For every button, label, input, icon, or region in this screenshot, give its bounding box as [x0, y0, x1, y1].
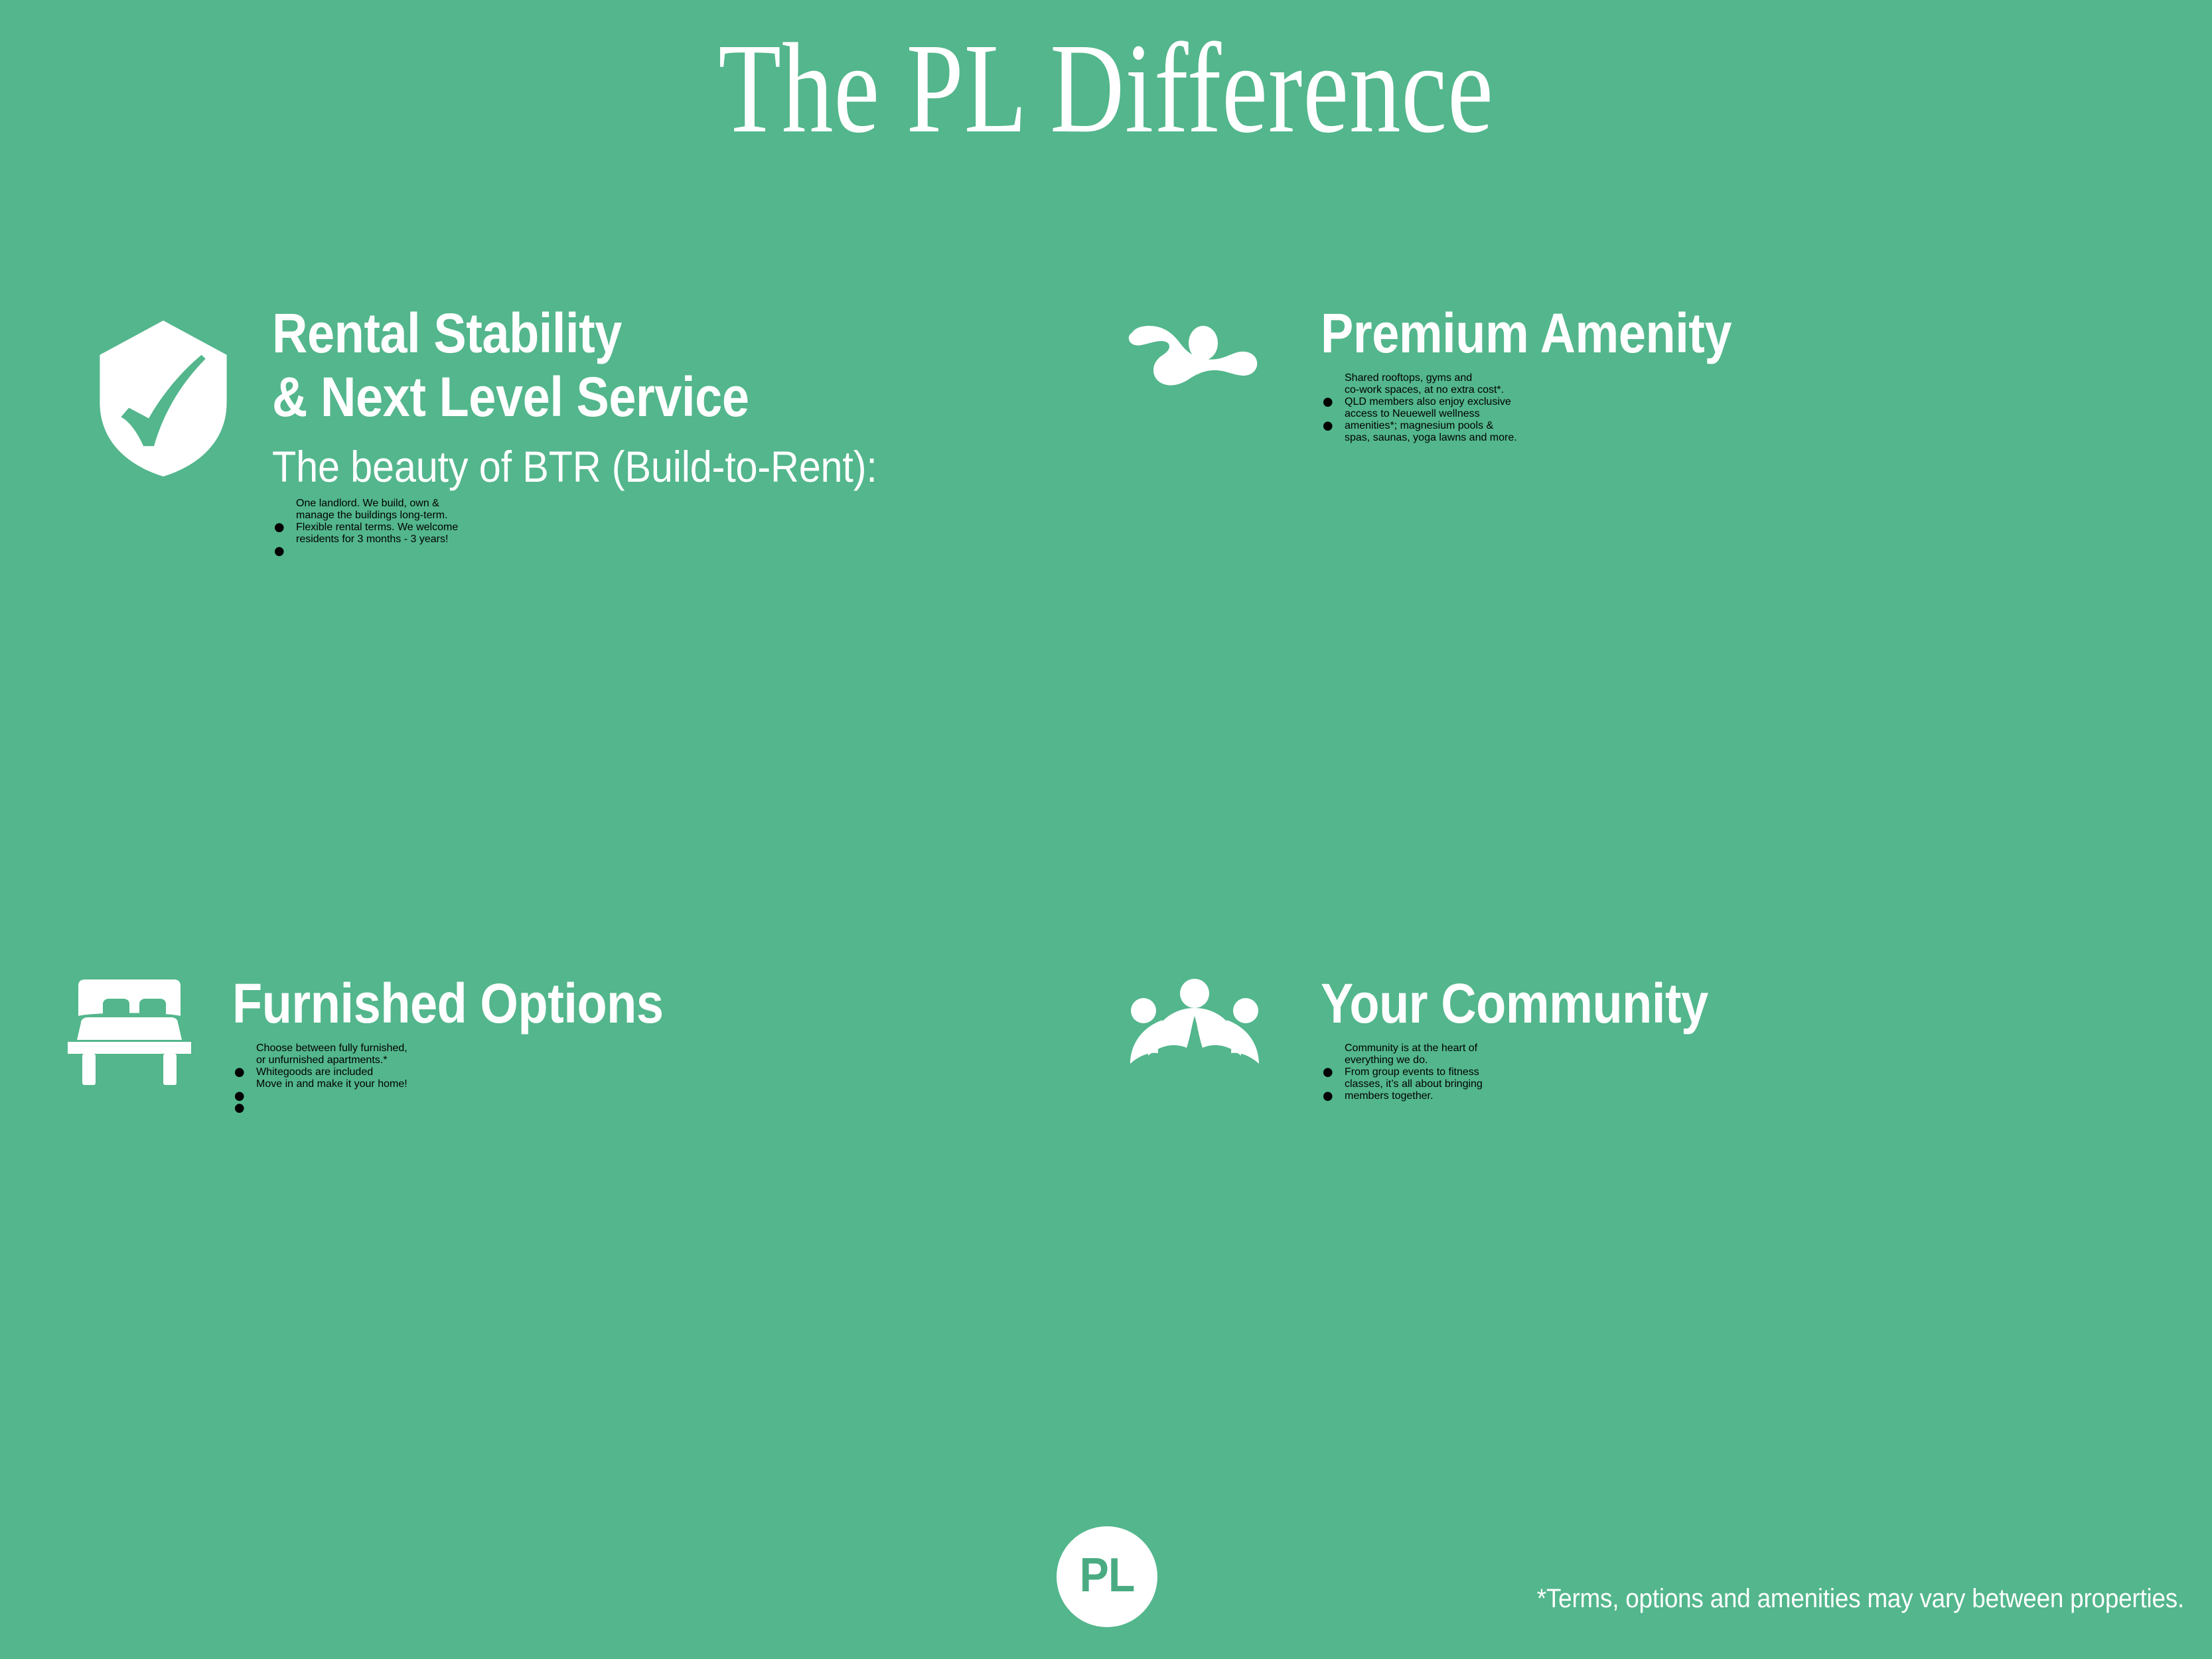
bullet-line: QLD members also enjoy exclusive — [1345, 396, 2164, 408]
bullet-line: members together. — [1345, 1090, 2164, 1102]
feature-bullet: Whitegoods are included — [232, 1066, 1062, 1078]
swimmer-icon — [1128, 302, 1321, 394]
bullet-line: Whitegoods are included — [256, 1066, 1062, 1078]
bullet-line: Community is at the heart of — [1345, 1043, 2164, 1054]
bullet-line: Flexible rental terms. We welcome — [296, 522, 1082, 534]
pl-logo: PL — [1057, 1526, 1157, 1627]
community-people-icon — [1128, 972, 1321, 1072]
feature-body: Premium Amenity Shared rooftops, gyms an… — [1321, 302, 2164, 444]
feature-bullet: Shared rooftops, gyms and co-work spaces… — [1321, 372, 2164, 396]
feature-body: Furnished Options Choose between fully f… — [232, 972, 1062, 1090]
feature-card-premium-amenity: Premium Amenity Shared rooftops, gyms an… — [1128, 302, 2164, 444]
feature-bullet: Flexible rental terms. We welcome reside… — [272, 522, 1082, 545]
bullet-line: spas, saunas, yoga lawns and more. — [1345, 432, 2164, 444]
feature-heading: Furnished Options — [232, 972, 962, 1036]
bullet-line: amenities*; magnesium pools & — [1345, 420, 2164, 432]
bullet-line: Choose between fully furnished, — [256, 1043, 1062, 1054]
feature-bullet: From group events to fitness classes, it… — [1321, 1066, 2164, 1102]
bullet-line: classes, it’s all about bringing — [1345, 1078, 2164, 1090]
bullet-line: One landlord. We build, own & — [296, 498, 1082, 510]
bullet-line: access to Neuewell wellness — [1345, 408, 2164, 420]
bed-icon — [66, 972, 232, 1086]
bullet-line: or unfurnished apartments.* — [256, 1054, 1062, 1066]
bullet-line: Shared rooftops, gyms and — [1345, 372, 2164, 384]
feature-heading: Premium Amenity — [1321, 302, 2063, 366]
shield-check-icon — [100, 302, 272, 476]
bullet-line: residents for 3 months - 3 years! — [296, 534, 1082, 545]
feature-heading: Your Community — [1321, 972, 2063, 1036]
feature-card-your-community: Your Community Community is at the heart… — [1128, 972, 2164, 1102]
feature-card-furnished-options: Furnished Options Choose between fully f… — [66, 972, 1062, 1090]
feature-body: Rental Stability & Next Level Service Th… — [272, 302, 1082, 545]
bullet-line: Move in and make it your home! — [256, 1078, 1062, 1090]
feature-bullet: One landlord. We build, own & manage the… — [272, 498, 1082, 522]
feature-bullet: QLD members also enjoy exclusive access … — [1321, 396, 2164, 444]
page-header: The PL Difference — [0, 23, 2212, 154]
feature-bullet: Move in and make it your home! — [232, 1078, 1062, 1090]
pl-logo-label: PL — [1080, 1551, 1135, 1599]
feature-bullet: Community is at the heart of everything … — [1321, 1043, 2164, 1066]
feature-intro: The beauty of BTR (Build-to-Rent): — [272, 436, 1001, 498]
feature-body: Your Community Community is at the heart… — [1321, 972, 2164, 1102]
bullet-line: co-work spaces, at no extra cost*. — [1345, 384, 2164, 396]
feature-card-rental-stability: Rental Stability & Next Level Service Th… — [100, 302, 1082, 545]
page-title: The PL Difference — [221, 23, 1990, 154]
bullet-line: manage the buildings long-term. — [296, 510, 1082, 522]
feature-grid: Rental Stability & Next Level Service Th… — [0, 302, 2212, 1470]
disclaimer-text: *Terms, options and amenities may vary b… — [1537, 1583, 2184, 1615]
bullet-line: everything we do. — [1345, 1054, 2164, 1066]
bullet-line: From group events to fitness — [1345, 1066, 2164, 1078]
feature-bullet: Choose between fully furnished, or unfur… — [232, 1043, 1062, 1066]
feature-heading: Rental Stability & Next Level Service — [272, 302, 985, 429]
